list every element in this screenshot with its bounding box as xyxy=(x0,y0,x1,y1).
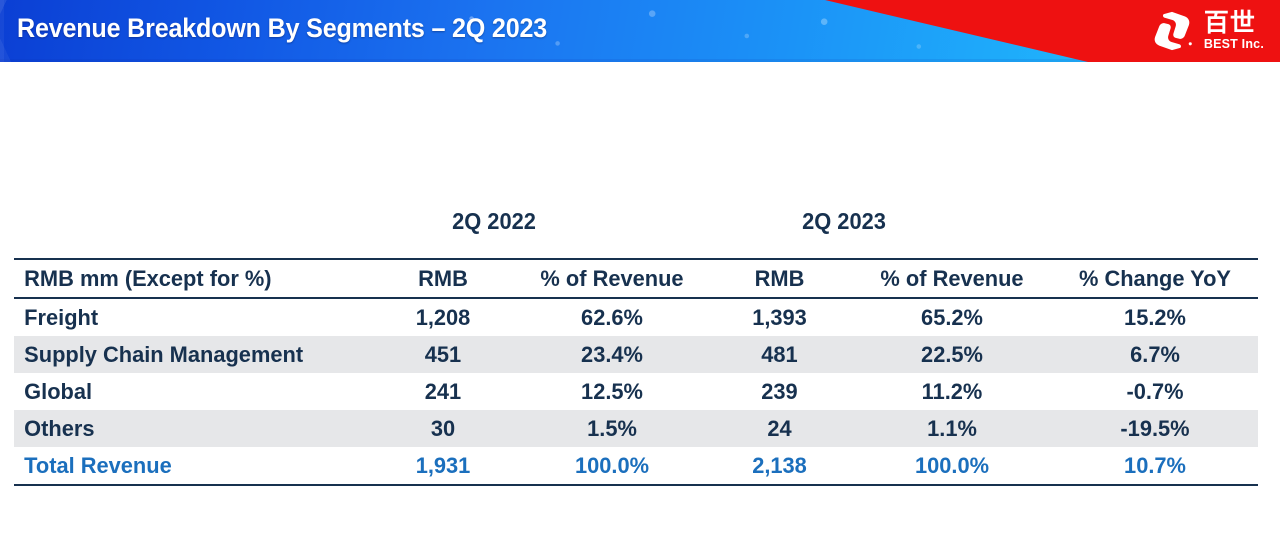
col-header-rmb-2022: RMB xyxy=(371,259,515,298)
cell-change-yoy: -0.7% xyxy=(1055,373,1255,410)
table-row: Supply Chain Management 451 23.4% 481 22… xyxy=(14,336,1258,373)
cell-pct-2022: 62.6% xyxy=(520,298,704,336)
cell-change-yoy: 6.7% xyxy=(1055,336,1255,373)
cell-rmb-2022: 1,208 xyxy=(371,298,515,336)
revenue-table: RMB mm (Except for %) RMB % of Revenue R… xyxy=(14,258,1258,486)
slide-root: Revenue Breakdown By Segments – 2Q 2023 … xyxy=(0,0,1280,537)
cell-pct-2022: 23.4% xyxy=(520,336,704,373)
cell-pct-2023: 11.2% xyxy=(855,373,1049,410)
table-bottom-spacer xyxy=(14,486,1268,508)
row-label: Others xyxy=(19,410,363,447)
brand-logo-text: 百世 BEST Inc. xyxy=(1204,11,1264,51)
col-header-pct-2022: % of Revenue xyxy=(520,259,704,298)
group-header-2q2022: 2Q 2022 xyxy=(371,208,618,235)
cell-pct-2022: 1.5% xyxy=(520,410,704,447)
cell-rmb-2022: 30 xyxy=(371,410,515,447)
cell-pct-2023: 22.5% xyxy=(855,336,1049,373)
table-row: Global 241 12.5% 239 11.2% -0.7% xyxy=(14,373,1258,410)
cell-total-rmb-2023: 2,138 xyxy=(709,447,850,485)
row-label: Freight xyxy=(19,298,363,336)
revenue-table-area: 2Q 2022 2Q 2023 RMB mm (Except for %) RM… xyxy=(14,196,1268,508)
cell-rmb-2023: 24 xyxy=(709,410,850,447)
brand-name-en: BEST Inc. xyxy=(1204,38,1264,51)
best-inc-logo-mark-icon xyxy=(1149,10,1195,52)
title-banner: Revenue Breakdown By Segments – 2Q 2023 … xyxy=(0,0,1280,62)
table-row: Others 30 1.5% 24 1.1% -19.5% xyxy=(14,410,1258,447)
cell-pct-2022: 12.5% xyxy=(520,373,704,410)
cell-rmb-2022: 451 xyxy=(371,336,515,373)
cell-pct-2023: 1.1% xyxy=(855,410,1049,447)
cell-change-yoy: 15.2% xyxy=(1055,298,1255,336)
column-group-headers: 2Q 2022 2Q 2023 xyxy=(14,196,1268,258)
col-header-change-yoy: % Change YoY xyxy=(1055,259,1255,298)
row-label: Supply Chain Management xyxy=(19,336,363,373)
table-body: Freight 1,208 62.6% 1,393 65.2% 15.2% Su… xyxy=(14,298,1258,485)
cell-rmb-2023: 481 xyxy=(709,336,850,373)
row-label: Global xyxy=(19,373,363,410)
col-header-pct-2023: % of Revenue xyxy=(855,259,1049,298)
cell-pct-2023: 65.2% xyxy=(855,298,1049,336)
brand-logo: 百世 BEST Inc. xyxy=(1149,8,1264,54)
cell-rmb-2023: 239 xyxy=(709,373,850,410)
table-row-total: Total Revenue 1,931 100.0% 2,138 100.0% … xyxy=(14,447,1258,485)
cell-total-pct-2022: 100.0% xyxy=(520,447,704,485)
table-header-row: RMB mm (Except for %) RMB % of Revenue R… xyxy=(14,259,1258,298)
group-header-2q2023: 2Q 2023 xyxy=(721,208,968,235)
cell-rmb-2023: 1,393 xyxy=(709,298,850,336)
cell-total-rmb-2022: 1,931 xyxy=(371,447,515,485)
cell-rmb-2022: 241 xyxy=(371,373,515,410)
table-header: RMB mm (Except for %) RMB % of Revenue R… xyxy=(14,259,1258,298)
col-header-rmb-2023: RMB xyxy=(709,259,850,298)
table-row: Freight 1,208 62.6% 1,393 65.2% 15.2% xyxy=(14,298,1258,336)
cell-total-pct-2023: 100.0% xyxy=(855,447,1049,485)
col-header-units: RMB mm (Except for %) xyxy=(19,259,363,298)
page-title: Revenue Breakdown By Segments – 2Q 2023 xyxy=(17,13,547,44)
brand-name-cn: 百世 xyxy=(1204,11,1264,36)
cell-total-change-yoy: 10.7% xyxy=(1055,447,1255,485)
row-label-total: Total Revenue xyxy=(19,447,363,485)
cell-change-yoy: -19.5% xyxy=(1055,410,1255,447)
